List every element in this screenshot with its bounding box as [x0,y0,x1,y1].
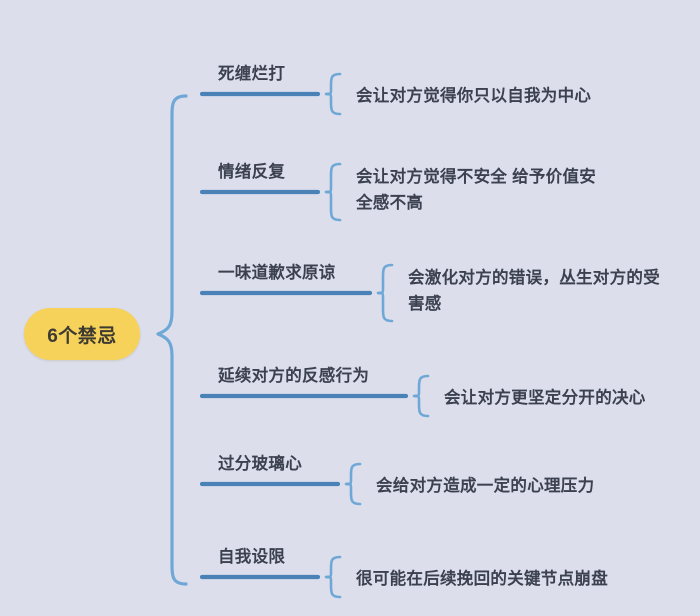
sub-brace-3 [378,265,392,321]
branch-label-3[interactable]: 一味道歉求原谅 [218,259,336,283]
branch-description-1: 会让对方觉得你只以自我为中心 [356,84,656,110]
sub-brace-6 [326,557,340,597]
branch-description-3: 会激化对方的错误，丛生对方的受 害感 [408,266,678,317]
mindmap-canvas: 6个禁忌 死缠烂打 会让对方觉得你只以自我为中心 情绪反复 会让对方觉得不安全 … [0,0,700,616]
root-node[interactable]: 6个禁忌 [24,308,140,360]
branch-label-4[interactable]: 延续对方的反感行为 [218,362,369,386]
main-brace [158,96,186,584]
sub-brace-5 [346,464,360,504]
branch-label-6[interactable]: 自我设限 [218,543,285,567]
sub-brace-4 [414,376,428,416]
sub-brace-1 [326,74,340,114]
branch-label-5[interactable]: 过分玻璃心 [218,450,302,474]
root-node-label: 6个禁忌 [47,321,117,348]
sub-brace-2 [326,164,340,220]
branch-description-6: 很可能在后续挽回的关键节点崩盘 [356,567,666,593]
branch-label-1[interactable]: 死缠烂打 [218,60,285,84]
branch-description-4: 会让对方更坚定分开的决心 [444,386,694,412]
branch-description-2: 会让对方觉得不安全 给予价值安 全感不高 [356,165,656,216]
branch-label-2[interactable]: 情绪反复 [218,158,285,182]
branch-description-5: 会给对方造成一定的心理压力 [376,474,656,500]
